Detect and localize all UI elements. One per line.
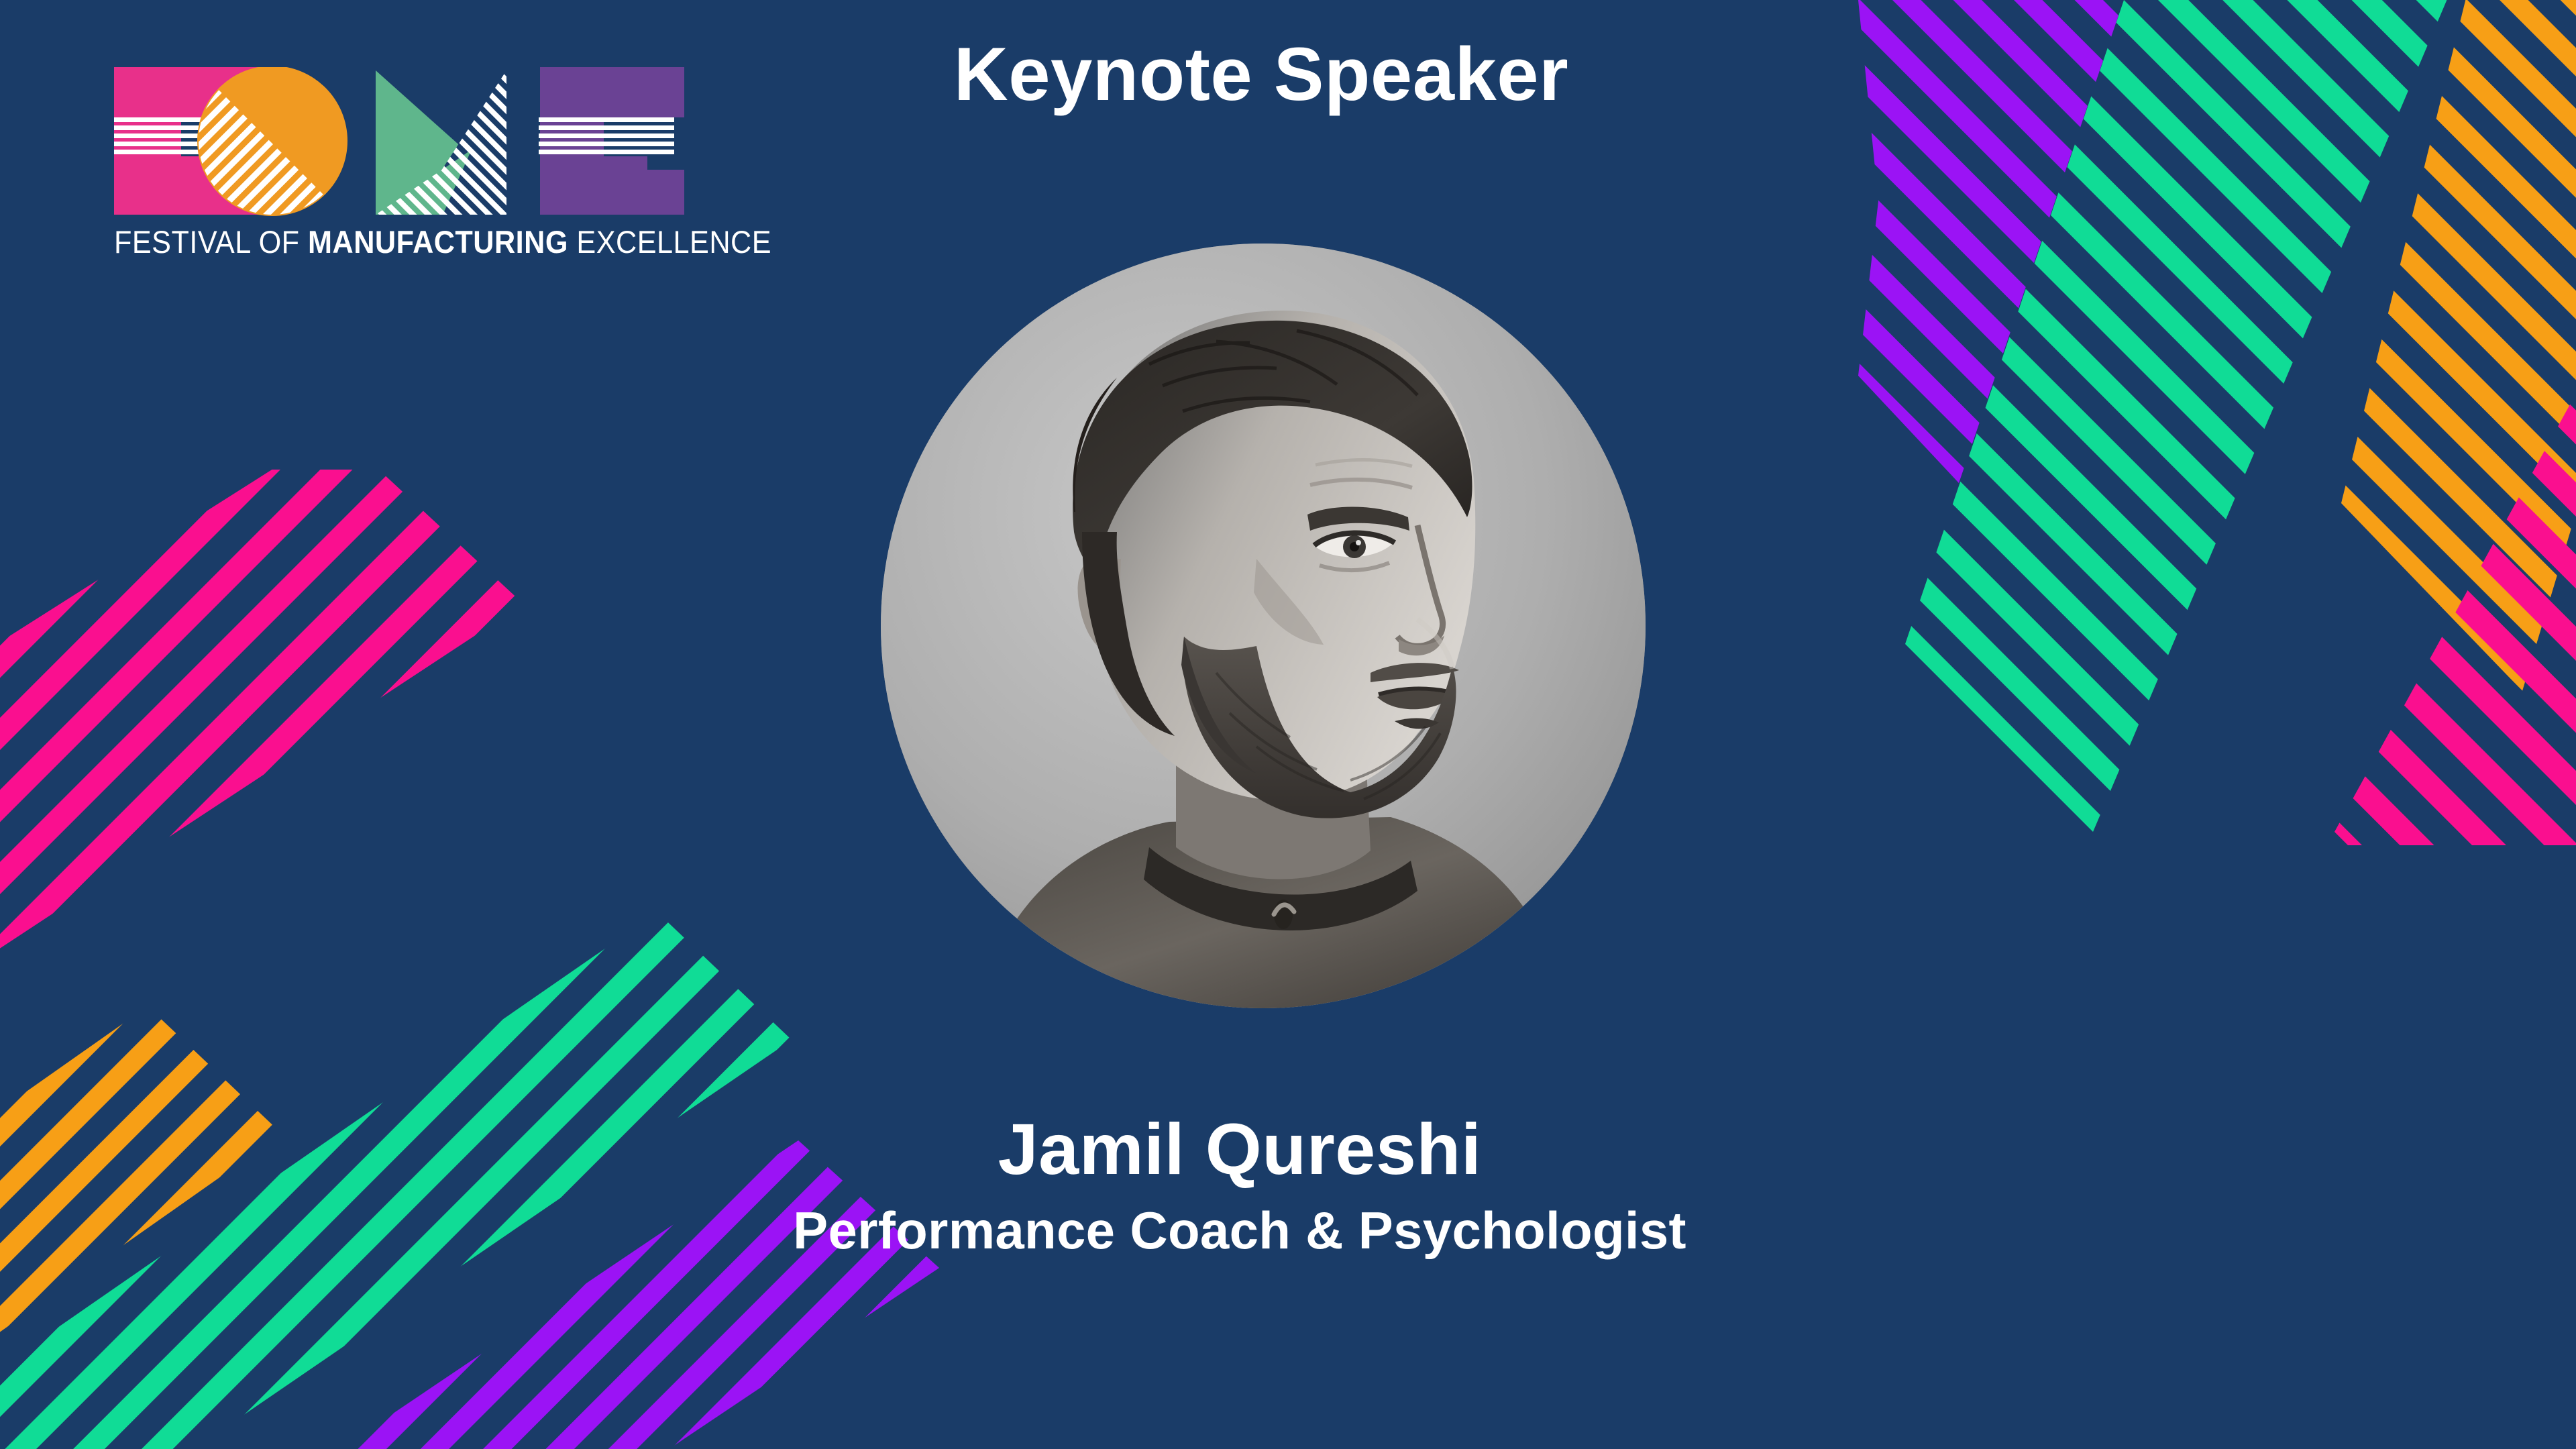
logo-tagline: FESTIVAL OF MANUFACTURING EXCELLENCE	[114, 223, 682, 260]
tagline-bold: MANUFACTURING	[308, 224, 568, 260]
speaker-photo	[881, 244, 1646, 1008]
page-title: Keynote Speaker	[0, 37, 2576, 112]
speaker-info: Jamil Qureshi Performance Coach & Psycho…	[0, 1110, 2576, 1262]
speaker-name: Jamil Qureshi	[0, 1110, 2576, 1189]
speaker-photo-illustration	[881, 244, 1646, 1008]
decor-stripes-bottom-left	[0, 470, 966, 1449]
page-title-text: Keynote Speaker	[954, 37, 1568, 112]
speaker-role: Performance Coach & Psychologist	[0, 1199, 2576, 1263]
speaker-role-text: Performance Coach & Psychologist	[793, 1199, 1686, 1263]
tagline-suffix: EXCELLENCE	[568, 224, 771, 260]
speaker-name-text: Jamil Qureshi	[998, 1110, 1482, 1189]
slide-canvas: FESTIVAL OF MANUFACTURING EXCELLENCE Key…	[0, 0, 2576, 1449]
decor-stripes-top-right	[1744, 0, 2576, 845]
tagline-prefix: FESTIVAL OF	[114, 224, 308, 260]
